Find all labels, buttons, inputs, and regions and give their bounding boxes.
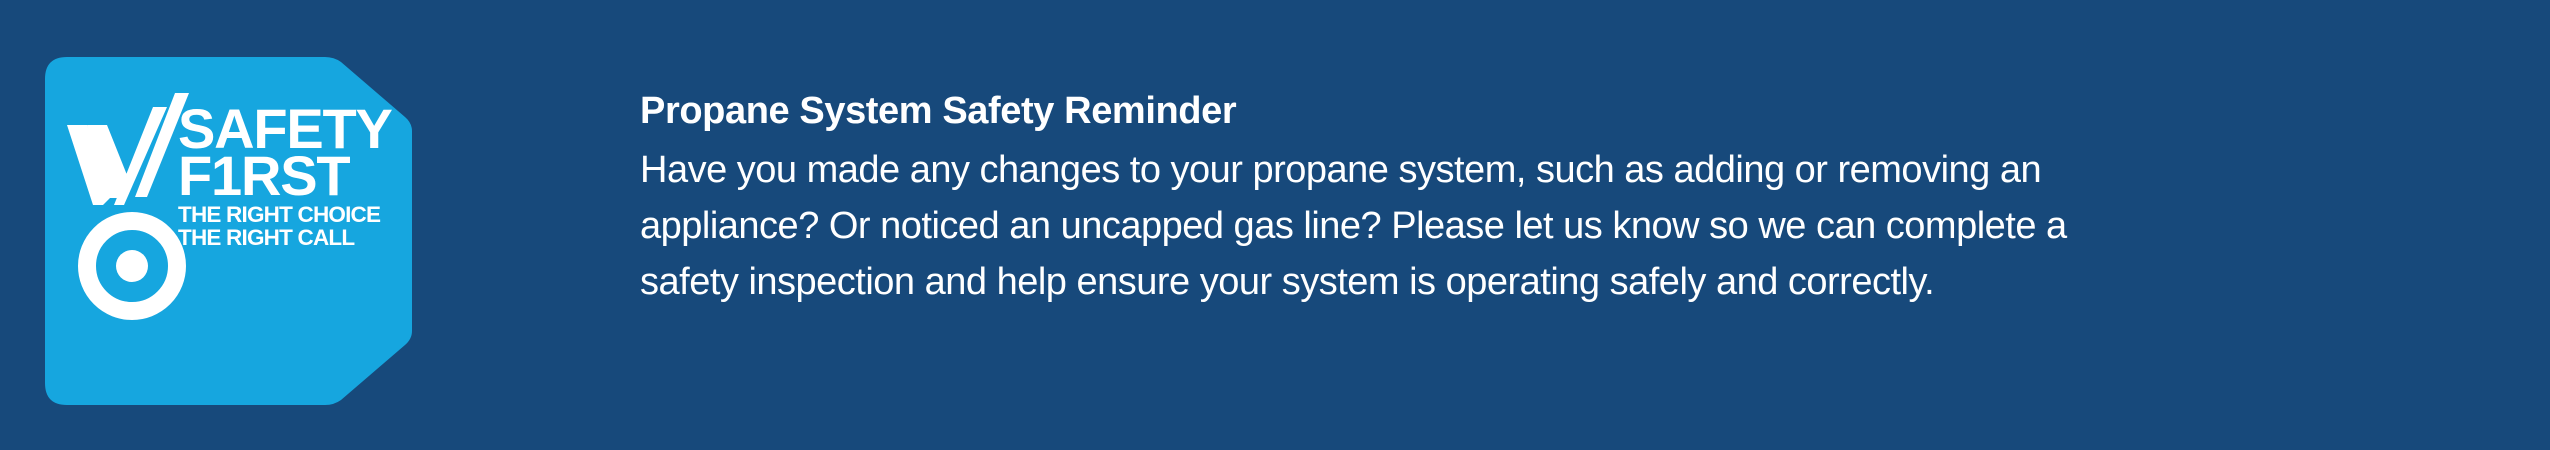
logo-tagline: THE RIGHT CHOICE THE RIGHT CALL <box>178 203 353 249</box>
message-heading: Propane System Safety Reminder <box>640 92 2470 130</box>
bullseye-target-icon <box>78 212 186 320</box>
safety-reminder-banner: SAFETY F1RST THE RIGHT CHOICE THE RIGHT … <box>0 0 2550 450</box>
message-body-line: Have you made any changes to your propan… <box>640 143 2470 199</box>
logo-tagline-line-1: THE RIGHT CHOICE <box>178 203 353 226</box>
message-body-line: appliance? Or noticed an uncapped gas li… <box>640 199 2470 255</box>
w-slash-icon <box>67 93 189 205</box>
logo-content: SAFETY F1RST THE RIGHT CHOICE THE RIGHT … <box>45 57 345 405</box>
logo-tagline-line-2: THE RIGHT CALL <box>178 226 353 249</box>
logo-wordmark-line-2: F1RST <box>178 152 353 199</box>
message-body-line: safety inspection and help ensure your s… <box>640 255 2470 311</box>
logo-wordmark: SAFETY F1RST THE RIGHT CHOICE THE RIGHT … <box>178 105 353 249</box>
safety-first-logo-badge: SAFETY F1RST THE RIGHT CHOICE THE RIGHT … <box>45 57 412 405</box>
message-body: Have you made any changes to your propan… <box>640 143 2470 311</box>
message-block: Propane System Safety Reminder Have you … <box>640 92 2470 311</box>
